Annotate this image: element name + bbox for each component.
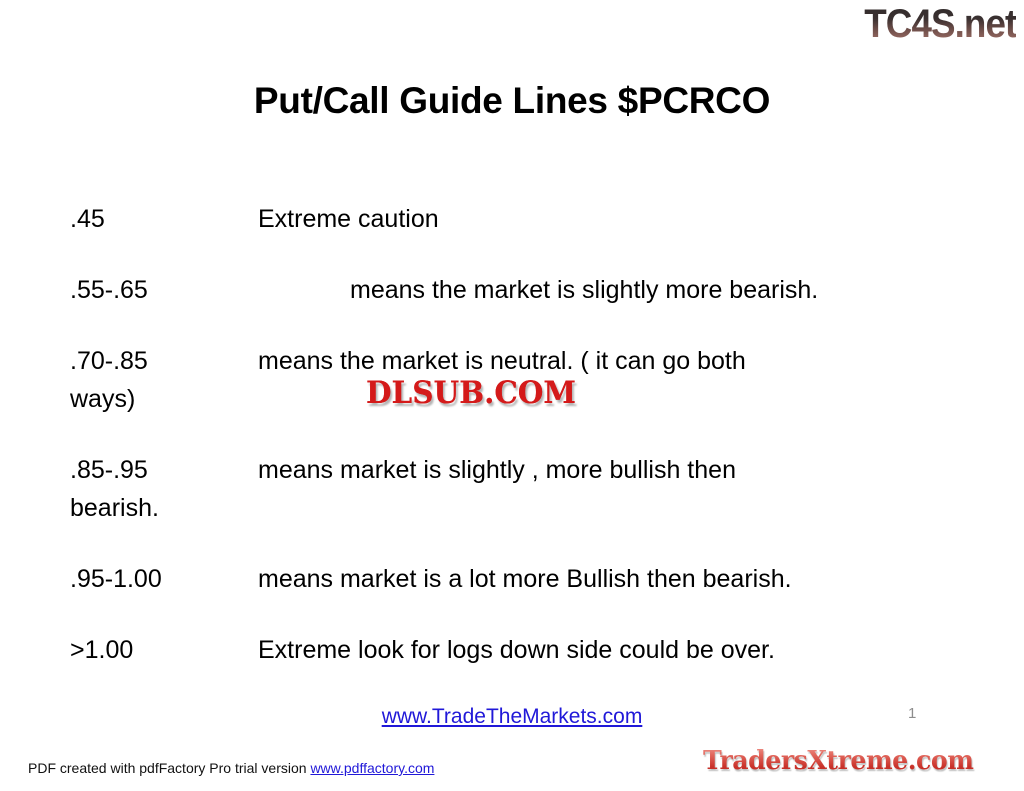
guide-description: means market is slightly , more bullish …	[258, 456, 736, 484]
guide-range-value: .70-.85	[70, 342, 258, 380]
tc4s-brand-logo: TC4S.net	[864, 2, 1016, 46]
pdffactory-link[interactable]: www.pdffactory.com	[310, 760, 434, 776]
list-item: .45Extreme caution	[70, 200, 970, 238]
guide-description-wrap: bearish.	[70, 489, 970, 527]
pdf-notice-text: PDF created with pdfFactory Pro trial ve…	[28, 760, 310, 776]
guide-lines-list: .45Extreme caution .55-.65means the mark…	[70, 200, 970, 702]
guide-description: means the market is slightly more bearis…	[258, 276, 818, 304]
guide-description: means the market is neutral. ( it can go…	[258, 347, 746, 375]
list-item: .95-1.00means market is a lot more Bulli…	[70, 560, 970, 598]
guide-range-value: .55-.65	[70, 271, 258, 309]
guide-range-value: >1.00	[70, 631, 258, 669]
list-item: >1.00Extreme look for logs down side cou…	[70, 631, 970, 669]
pdf-factory-notice: PDF created with pdfFactory Pro trial ve…	[28, 760, 434, 776]
guide-description: Extreme look for logs down side could be…	[258, 636, 775, 664]
list-item: .55-.65means the market is slightly more…	[70, 271, 970, 309]
page-number: 1	[908, 705, 916, 722]
list-item: .70-.85means the market is neutral. ( it…	[70, 342, 970, 418]
guide-range-value: .95-1.00	[70, 560, 258, 598]
list-item: .85-.95means market is slightly , more b…	[70, 451, 970, 527]
page-title: Put/Call Guide Lines $PCRCO	[0, 80, 1024, 122]
guide-description-wrap: ways)	[70, 380, 970, 418]
guide-description: Extreme caution	[258, 205, 439, 233]
guide-range-value: .85-.95	[70, 451, 258, 489]
tradersxtreme-brand-logo: TradersXtreme.com	[703, 745, 973, 777]
guide-range-value: .45	[70, 200, 258, 238]
guide-description: means market is a lot more Bullish then …	[258, 565, 792, 593]
trade-the-markets-link[interactable]: www.TradeTheMarkets.com	[0, 705, 1024, 729]
